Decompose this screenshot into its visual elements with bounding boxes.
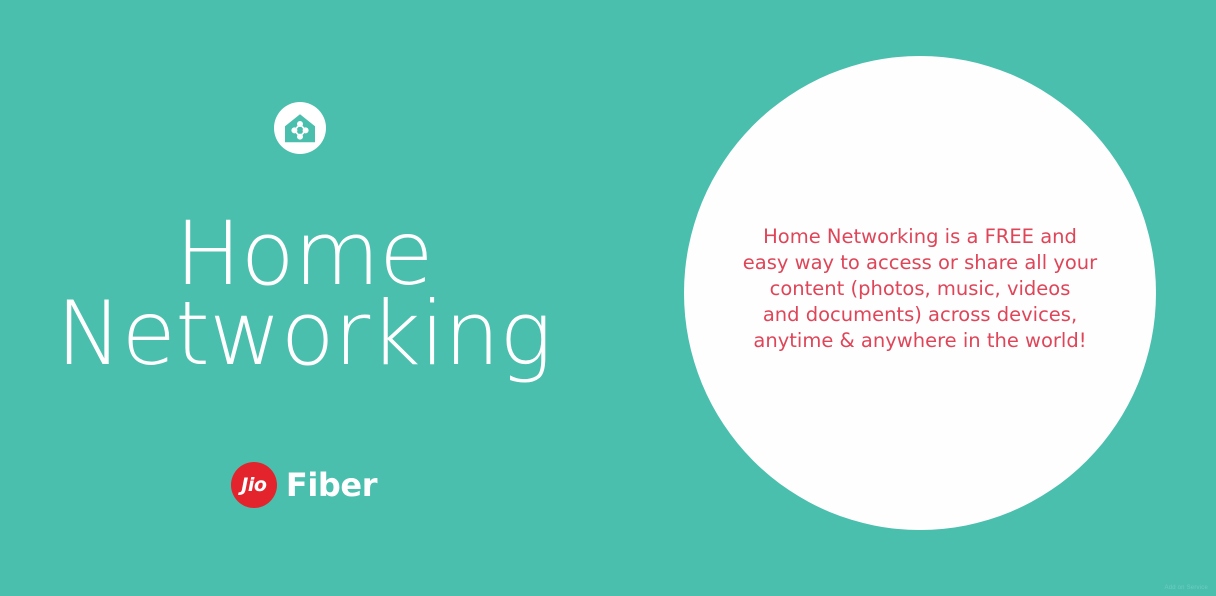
jio-logo-text: Jio (241, 476, 266, 495)
jio-fiber-logo: Jio Fiber (0, 462, 608, 508)
description-copy: Home Networking is a FREE and easy way t… (732, 224, 1108, 354)
headline-line-2: Networking (0, 294, 608, 374)
home-networking-banner: Home Networking Jio Fiber Home Networkin… (0, 0, 1216, 596)
description-line-3: content (photos, music, videos (732, 276, 1108, 302)
description-line-2: easy way to access or share all your (732, 250, 1108, 276)
jio-logo-mark: Jio (231, 462, 277, 508)
fiber-product-name: Fiber (286, 469, 377, 501)
banner-left-column: Home Networking Jio Fiber (0, 0, 608, 596)
description-disc: Home Networking is a FREE and easy way t… (684, 56, 1156, 530)
home-network-badge (274, 102, 326, 154)
description-line-5: anytime & anywhere in the world! (732, 328, 1108, 354)
banner-headline: Home Networking (0, 214, 608, 374)
home-network-icon (283, 111, 317, 145)
description-line-4: and documents) across devices, (732, 302, 1108, 328)
description-line-1: Home Networking is a FREE and (732, 224, 1108, 250)
add-on-service-footnote: Add on Service (1165, 585, 1209, 591)
